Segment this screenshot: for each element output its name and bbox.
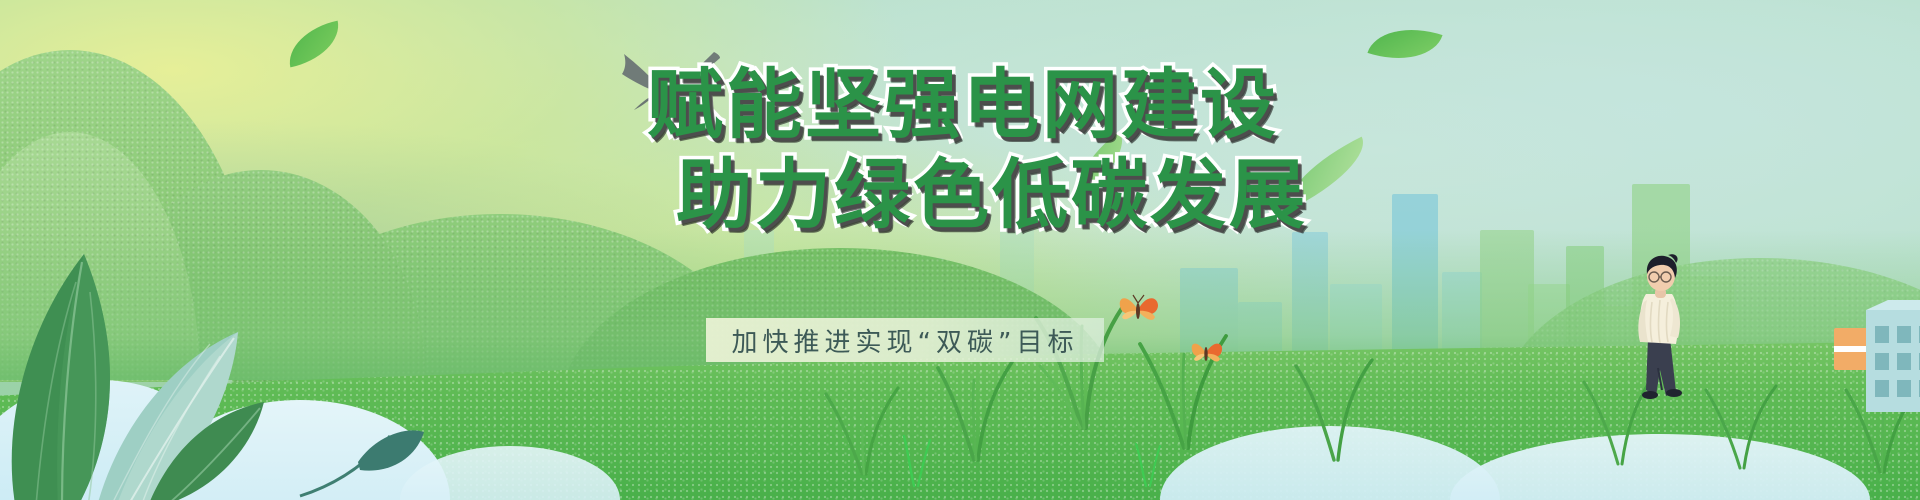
grass-tuft-small: [896, 430, 936, 493]
decorative-leaf-stem: [298, 418, 428, 500]
grass-tuft: [930, 352, 1020, 467]
decorative-leaf-small-dark: [148, 398, 268, 500]
apartment-building: [1866, 300, 1920, 412]
walking-person: [1628, 250, 1700, 400]
butterfly-center: [1118, 290, 1160, 331]
grass-tuft: [820, 380, 906, 481]
swallow-icon: [616, 52, 736, 119]
grass-tuft: [1700, 378, 1784, 475]
grass-tuft: [1290, 352, 1382, 467]
butterfly-left: [1190, 336, 1224, 371]
eco-power-grid-banner: 赋能坚强电网建设 助力绿色低碳发展 加快推进实现“双碳”目标: [0, 0, 1920, 500]
subtitle-text: 加快推进实现“双碳”目标: [732, 322, 1079, 359]
subtitle-bar: 加快推进实现“双碳”目标: [706, 318, 1104, 362]
grass-tuft-small: [1130, 440, 1164, 493]
